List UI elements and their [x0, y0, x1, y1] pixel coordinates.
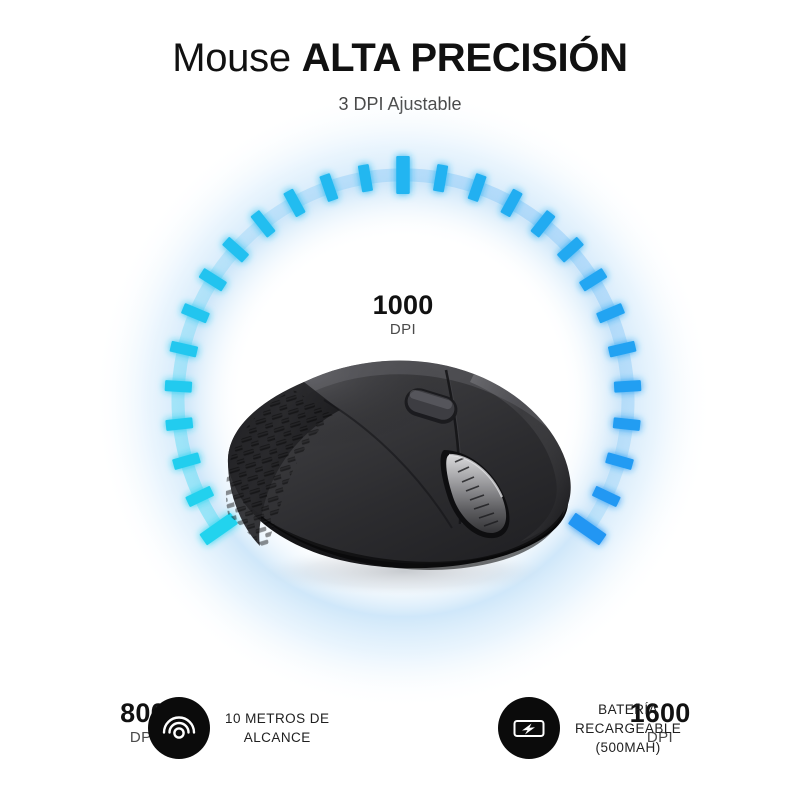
feature-battery: BATERÍA RECARGEABLE (500MAH) [498, 676, 681, 780]
feature-range-line-2: ALCANCE [225, 728, 329, 747]
feature-battery-line-3: (500MAH) [575, 738, 681, 757]
battery-charging-icon [509, 708, 549, 748]
dpi-label-1000: 1000 DPI [343, 290, 463, 339]
feature-range-line-1: 10 METROS DE [225, 709, 329, 728]
mouse-illustration [208, 338, 598, 603]
feature-battery-line-1: BATERÍA [575, 700, 681, 719]
dial-tick [165, 380, 193, 393]
dpi-value: 1000 [343, 290, 463, 320]
feature-battery-badge [498, 697, 560, 759]
title-light-part: Mouse [172, 36, 301, 80]
feature-battery-line-2: RECARGEABLE [575, 719, 681, 738]
title-bold-part: ALTA PRECISIÓN [302, 36, 628, 80]
dial-tick [614, 380, 642, 393]
dial-tick-marker [396, 156, 410, 194]
wireless-signal-icon [159, 708, 199, 748]
feature-list: 10 METROS DE ALCANCE BATERÍA RECARGEABLE… [0, 676, 800, 780]
product-infographic: Mouse ALTA PRECISIÓN 3 DPI Ajustable [0, 0, 800, 800]
dpi-unit: DPI [343, 320, 463, 339]
feature-range-badge [148, 697, 210, 759]
feature-range: 10 METROS DE ALCANCE [148, 676, 329, 780]
feature-battery-label: BATERÍA RECARGEABLE (500MAH) [575, 700, 681, 757]
feature-range-label: 10 METROS DE ALCANCE [225, 709, 329, 747]
product-image-wireless-mouse [208, 338, 598, 603]
page-title: Mouse ALTA PRECISIÓN [0, 34, 800, 82]
